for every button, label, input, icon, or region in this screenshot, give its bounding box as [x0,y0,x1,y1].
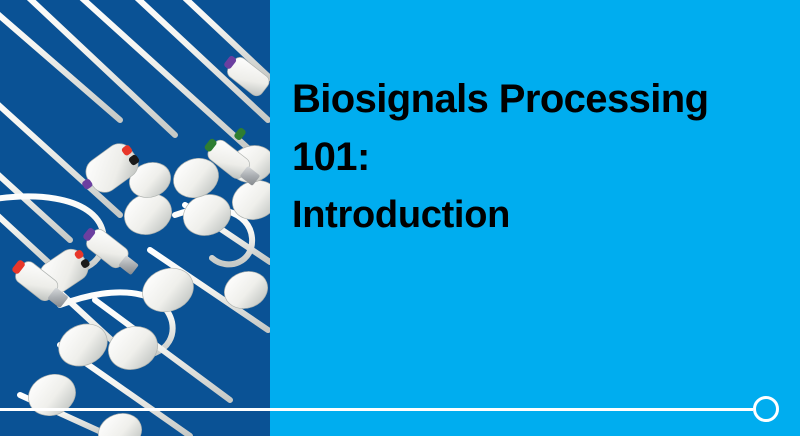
bottom-ring-marker [753,396,779,422]
title-line-2: 101: [292,128,792,186]
slide-root: Biosignals Processing 101: Introduction [0,0,800,436]
title-line-1: Biosignals Processing [292,70,792,128]
photo-panel [0,0,270,436]
biosignal-sensor-cables-photo [0,0,270,436]
content-panel: Biosignals Processing 101: Introduction [270,0,800,436]
bottom-rule [0,408,753,411]
title-line-3: Introduction [292,186,792,244]
page-title: Biosignals Processing 101: Introduction [292,70,792,244]
